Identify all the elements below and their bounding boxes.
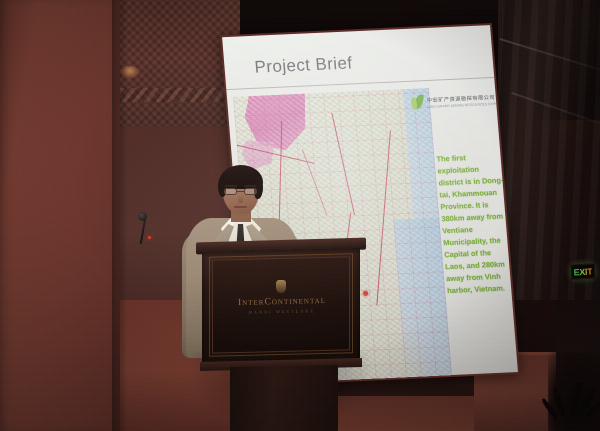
curtain-folds — [498, 0, 600, 300]
column-shadow-edge — [112, 0, 126, 431]
microphone-icon — [138, 212, 147, 221]
company-logo: 中宏矿产资源勘探有限公司 SINO-GRAND MINING RESOURCES… — [410, 87, 496, 117]
speaker-eyebrow-right — [244, 185, 256, 187]
slide-body-text: The first exploitation district is in Do… — [436, 151, 514, 297]
slide-title: Project Brief — [254, 53, 353, 77]
exit-sign: EXIT — [571, 263, 596, 279]
wall-panel-trim — [120, 88, 240, 102]
eyeglasses-icon — [223, 188, 259, 195]
photograph-conference-presentation: EXIT — [0, 0, 600, 431]
lectern: InterContinental HANOI WESTLAKE — [196, 240, 366, 431]
structural-column-left — [0, 0, 120, 431]
hotel-brand-name: InterContinental — [220, 294, 344, 308]
hotel-crest-icon — [276, 280, 286, 293]
leaf-icon — [410, 94, 424, 113]
microphone-led-indicator — [148, 236, 151, 239]
speaker-eyebrow-left — [225, 185, 237, 187]
lectern-pedestal — [230, 365, 338, 431]
hotel-brand-plate: InterContinental HANOI WESTLAKE — [220, 294, 344, 315]
speaker-nose — [238, 195, 243, 203]
potted-plant-silhouette — [548, 352, 600, 431]
speaker-mouth — [234, 206, 247, 208]
exit-sign-label: EXIT — [573, 266, 592, 277]
